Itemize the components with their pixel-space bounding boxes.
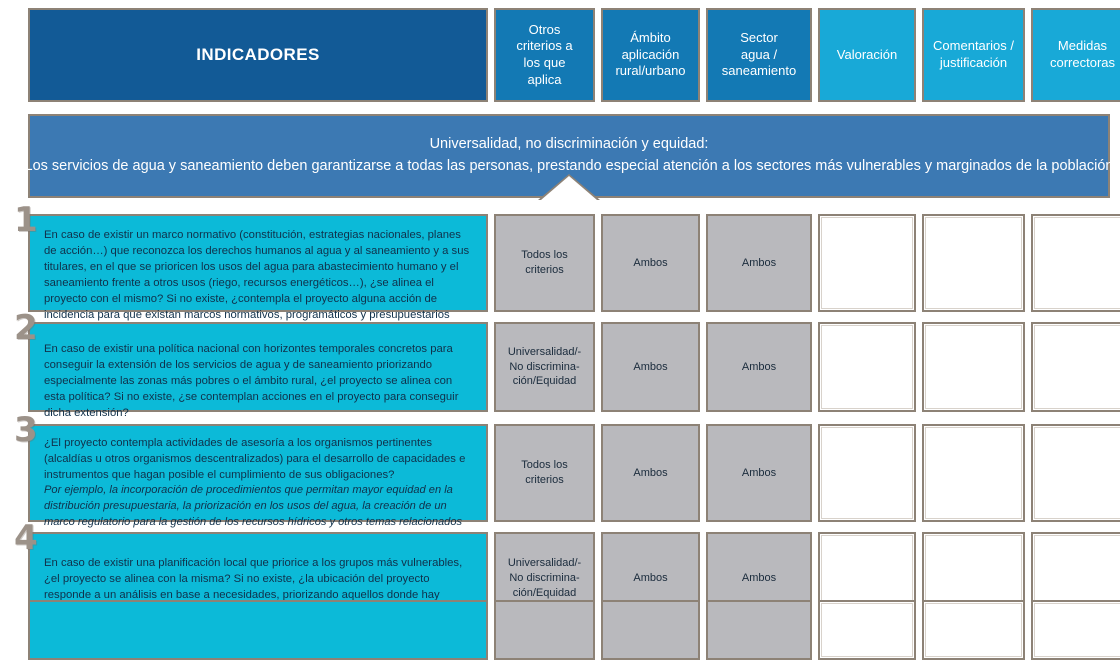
header-cell-otros-criterios: Otros criterios a los que aplica [494, 8, 595, 102]
header-cell-ambito-aplicacion: Ámbito aplicación rural/urbano [601, 8, 700, 102]
header-label-comentarios-line1: Comentarios / [933, 38, 1014, 55]
header-label-otros-criterios-line3: los que [516, 55, 572, 72]
comentarios-input[interactable] [922, 424, 1025, 522]
header-label-otros-criterios-line1: Otros [516, 22, 572, 39]
header-label-comentarios-line2: justificación [933, 55, 1014, 72]
header-cell-comentarios: Comentarios / justificación [922, 8, 1025, 102]
row-number-badge: 1 [14, 203, 38, 237]
otros-criterios-line2: criterios [521, 473, 567, 488]
table-header-row: INDICADORES Otros criterios a los que ap… [28, 8, 1110, 102]
medidas-correctoras-input[interactable] [1031, 424, 1120, 522]
table-row [28, 600, 1110, 660]
sector-cell: Ambos [706, 214, 812, 312]
header-label-valoracion: Valoración [837, 47, 897, 64]
otros-criterios-line3: ción/Equidad [508, 586, 581, 601]
header-label-otros-criterios-line2: criterios a [516, 38, 572, 55]
header-label-indicadores: INDICADORES [196, 45, 319, 65]
header-label-ambito-line3: rural/urbano [615, 63, 685, 80]
banner-notch-icon [541, 176, 597, 200]
valoracion-input[interactable] [818, 600, 916, 660]
otros-criterios-line2: No discrimina- [508, 571, 581, 586]
header-cell-sector-agua-saneamiento: Sector agua / saneamiento [706, 8, 812, 102]
header-label-medidas-line1: Medidas [1050, 38, 1115, 55]
header-label-otros-criterios-line4: aplica [516, 72, 572, 89]
otros-criterios-line2: criterios [521, 263, 567, 278]
header-label-sector-line3: saneamiento [722, 63, 796, 80]
ambito-cell [601, 600, 700, 660]
header-label-ambito-line2: aplicación [615, 47, 685, 64]
comentarios-input[interactable] [922, 600, 1025, 660]
ambito-cell: Ambos [601, 424, 700, 522]
table-row: 3 ¿El proyecto contempla actividades de … [28, 424, 1110, 522]
sector-cell: Ambos [706, 322, 812, 412]
header-label-sector-line2: agua / [722, 47, 796, 64]
header-cell-indicadores: INDICADORES [28, 8, 488, 102]
valoracion-input[interactable] [818, 424, 916, 522]
table-row: 1 En caso de existir un marco normativo … [28, 214, 1110, 312]
row-number-badge: 3 [14, 413, 38, 447]
row-number-badge: 4 [14, 521, 38, 555]
indicator-cell [28, 600, 488, 660]
indicator-text: En caso de existir una política nacional… [44, 341, 474, 421]
otros-criterios-cell: Todos los criterios [494, 424, 595, 522]
header-label-ambito-line1: Ámbito [615, 30, 685, 47]
principle-banner: Universalidad, no discriminación y equid… [28, 114, 1110, 198]
indicator-cell: 1 En caso de existir un marco normativo … [28, 214, 488, 312]
sector-cell [706, 600, 812, 660]
sector-cell: Ambos [706, 424, 812, 522]
otros-criterios-cell [494, 600, 595, 660]
indicator-matrix-sheet: INDICADORES Otros criterios a los que ap… [0, 0, 1120, 632]
medidas-correctoras-input[interactable] [1031, 600, 1120, 660]
header-label-medidas-line2: correctoras [1050, 55, 1115, 72]
header-label-sector-line1: Sector [722, 30, 796, 47]
otros-criterios-line2: No discrimina- [508, 360, 581, 375]
ambito-cell: Ambos [601, 322, 700, 412]
header-cell-medidas-correctoras: Medidas correctoras [1031, 8, 1120, 102]
otros-criterios-line1: Todos los [521, 248, 567, 263]
principle-banner-title: Universalidad, no discriminación y equid… [430, 134, 709, 156]
otros-criterios-line3: ción/Equidad [508, 374, 581, 389]
table-row: 2 En caso de existir una política nacion… [28, 322, 1110, 412]
otros-criterios-cell: Universalidad/- No discrimina- ción/Equi… [494, 322, 595, 412]
valoracion-input[interactable] [818, 214, 916, 312]
valoracion-input[interactable] [818, 322, 916, 412]
indicator-cell: 2 En caso de existir una política nacion… [28, 322, 488, 412]
otros-criterios-line1: Universalidad/- [508, 556, 581, 571]
comentarios-input[interactable] [922, 322, 1025, 412]
otros-criterios-line1: Universalidad/- [508, 345, 581, 360]
otros-criterios-line1: Todos los [521, 458, 567, 473]
indicator-cell: 3 ¿El proyecto contempla actividades de … [28, 424, 488, 522]
comentarios-input[interactable] [922, 214, 1025, 312]
medidas-correctoras-input[interactable] [1031, 214, 1120, 312]
header-cell-valoracion: Valoración [818, 8, 916, 102]
indicator-text: ¿El proyecto contempla actividades de as… [44, 435, 474, 483]
ambito-cell: Ambos [601, 214, 700, 312]
medidas-correctoras-input[interactable] [1031, 322, 1120, 412]
otros-criterios-cell: Todos los criterios [494, 214, 595, 312]
row-number-badge: 2 [14, 311, 38, 345]
